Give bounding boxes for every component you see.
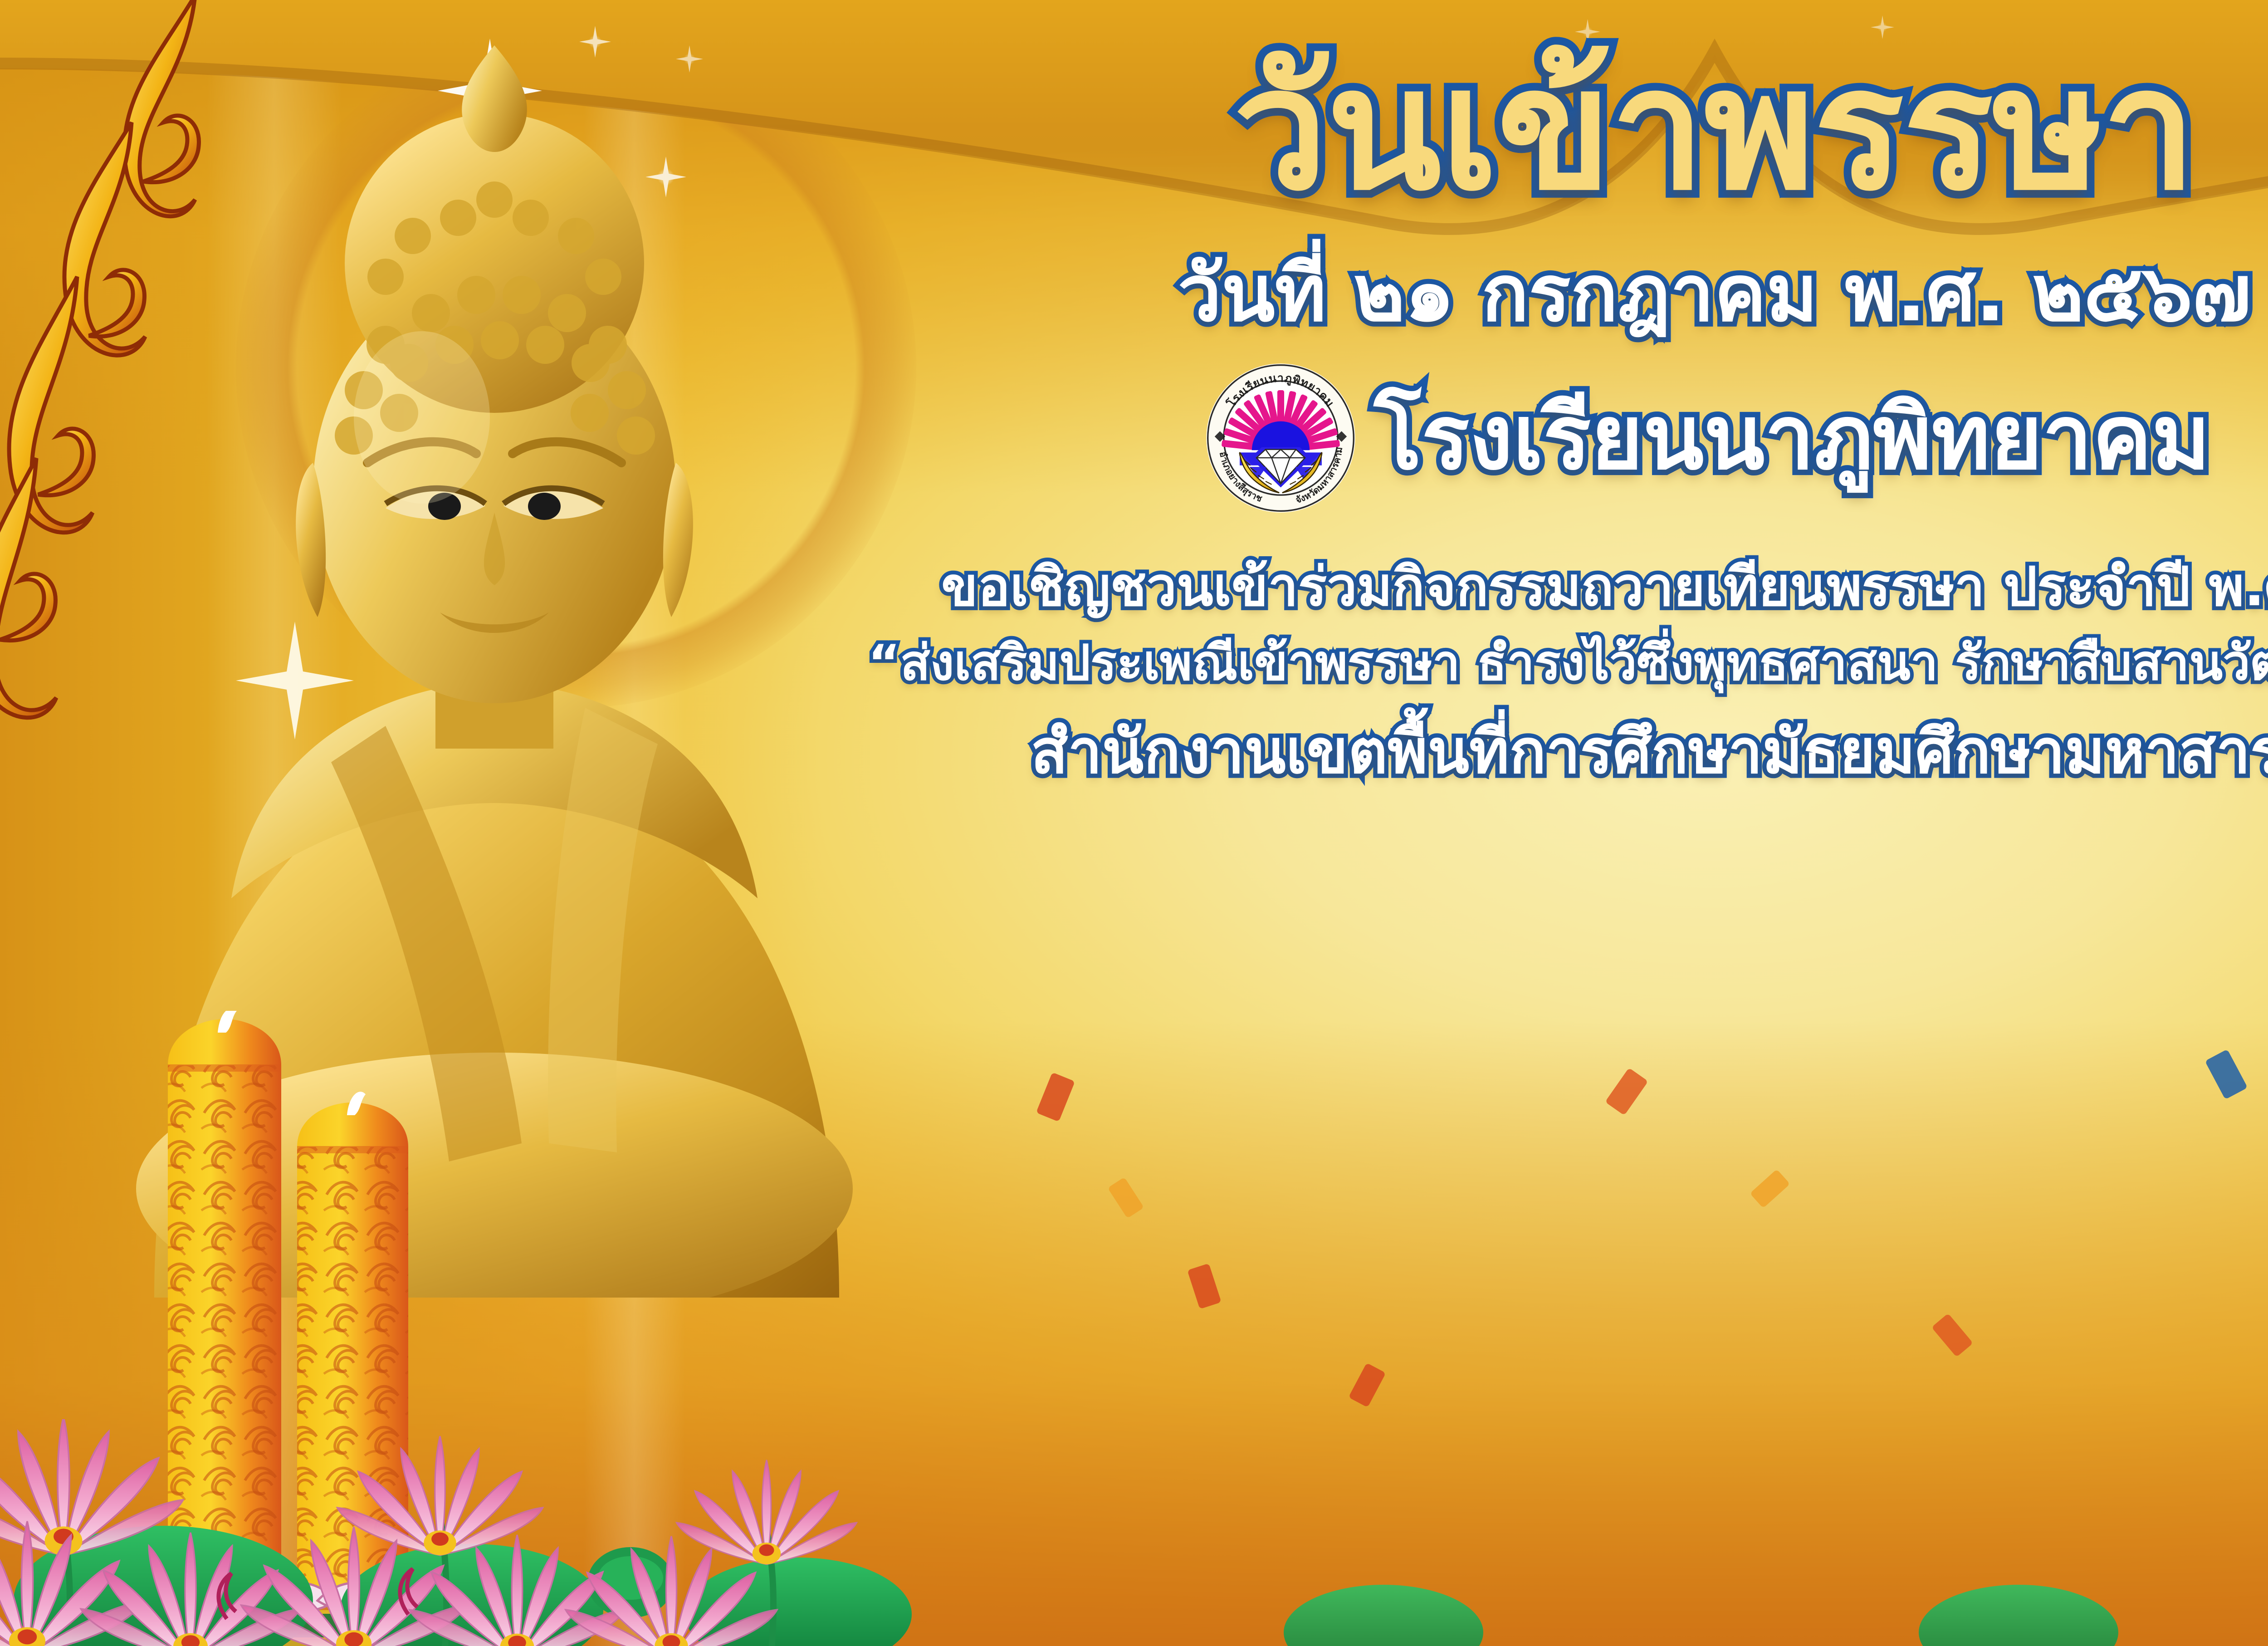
event-date: วันที่ ๒๑ กรกฎาคม พ.ศ. ๒๕๖๗ [1178, 253, 2251, 335]
slogan-text: “ส่งเสริมประเพณีเข้าพรรษา ธำรงไว้ซึ่งพุท… [868, 637, 2268, 691]
school-identity-row: โรงเรียนนาภูพิทยาคม อำเภอยางสีสุราช จังห… [1205, 362, 2210, 514]
school-name: โรงเรียนนาภูพิทยาคม [1374, 393, 2210, 484]
school-logo-icon: โรงเรียนนาภูพิทยาคม อำเภอยางสีสุราช จังห… [1205, 362, 1357, 514]
invitation-text: ขอเชิญชวนเข้าร่วมกิจกรรมถวายเทียนพรรษา ป… [941, 558, 2268, 617]
page-title: วันเข้าพรรษา [1233, 44, 2195, 216]
banner-poster: วันเข้าพรรษา วันที่ ๒๑ กรกฎาคม พ.ศ. ๒๕๖๗ [0, 0, 2268, 1646]
office-name: สำนักงานเขตพื้นที่การศึกษามัธยมศึกษามหาส… [1031, 719, 2268, 785]
poster-content: วันเข้าพรรษา วันที่ ๒๑ กรกฎาคม พ.ศ. ๒๕๖๗ [0, 0, 2268, 1646]
